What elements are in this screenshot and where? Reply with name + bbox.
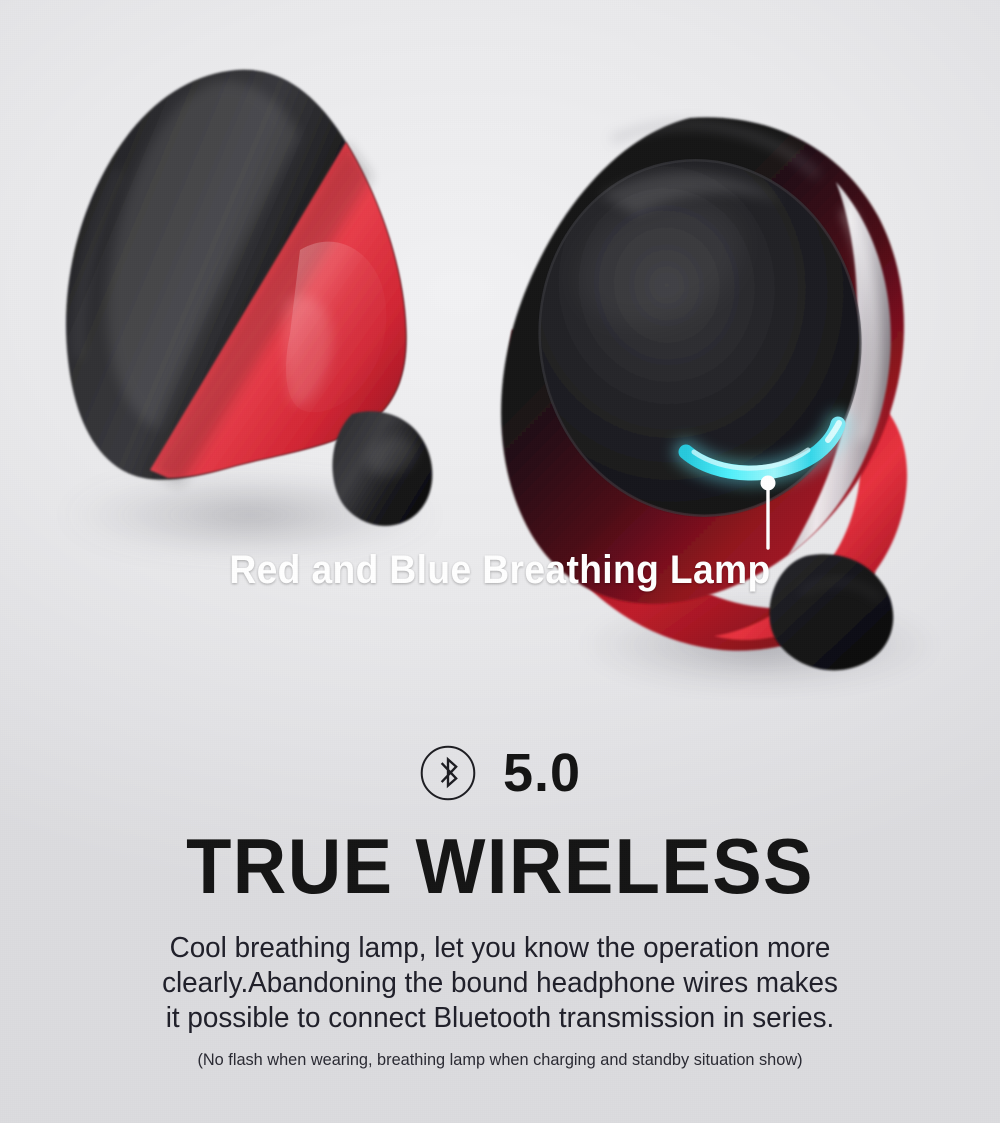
page-title: TRUE WIRELESS bbox=[25, 827, 975, 905]
description-line-1: Cool breathing lamp, let you know the op… bbox=[20, 931, 980, 966]
product-hero-image bbox=[0, 0, 1000, 700]
left-earbud bbox=[66, 70, 432, 526]
bluetooth-version-label: 5.0 bbox=[503, 746, 581, 800]
footnote-text: (No flash when wearing, breathing lamp w… bbox=[20, 1050, 980, 1070]
breathing-lamp-callout-label: Red and Blue Breathing Lamp bbox=[35, 548, 965, 593]
copy-block: 5.0 TRUE WIRELESS Cool breathing lamp, l… bbox=[0, 735, 1000, 1070]
bluetooth-version-row: 5.0 bbox=[0, 735, 1000, 811]
description-line-3: it possible to connect Bluetooth transmi… bbox=[20, 1001, 980, 1036]
bluetooth-icon bbox=[419, 744, 477, 802]
description-line-2: clearly.Abandoning the bound headphone w… bbox=[20, 966, 980, 1001]
product-feature-page: Red and Blue Breathing Lamp 5.0 TRUE WIR… bbox=[0, 0, 1000, 1123]
callout-dot bbox=[761, 476, 776, 491]
description-text: Cool breathing lamp, let you know the op… bbox=[20, 931, 980, 1036]
